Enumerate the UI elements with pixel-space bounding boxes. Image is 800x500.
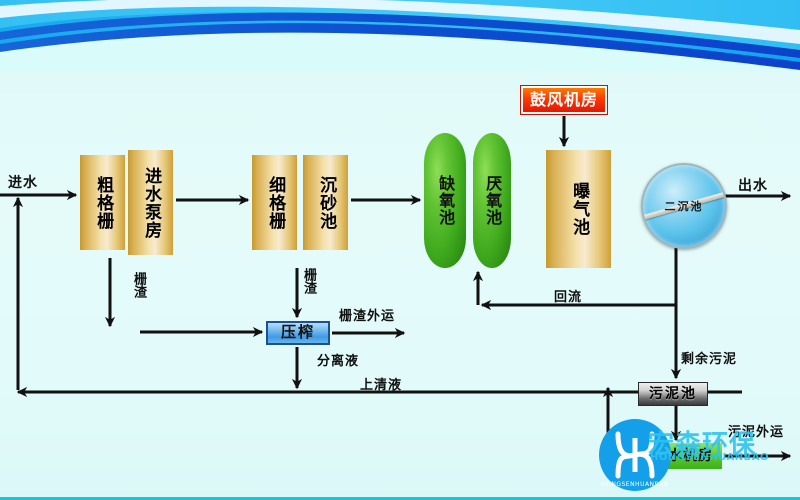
node-label: 进水泵房 xyxy=(142,167,159,239)
label-text: 进水 xyxy=(8,175,38,191)
label-text: 出水 xyxy=(738,178,768,194)
node-fine-screen[interactable]: 细格栅 xyxy=(252,155,297,250)
node-label: 污泥池 xyxy=(649,387,697,401)
svg-text:HONGSENHUANBAO: HONGSENHUANBAO xyxy=(601,481,669,488)
label-text: 栅渣 xyxy=(301,268,316,294)
label-excess-sludge: 剩余污泥 xyxy=(681,348,737,367)
node-label: 厌氧池 xyxy=(484,175,500,226)
node-aeration-tank[interactable]: 曝气池 xyxy=(546,150,611,268)
node-coarse-screen[interactable]: 粗格栅 xyxy=(80,155,125,250)
node-sludge-tank[interactable]: 污泥池 xyxy=(638,382,708,406)
node-label: 二沉池 xyxy=(643,198,725,214)
label-return-sludge: 回流 xyxy=(554,286,582,305)
label-supernatant: 上清液 xyxy=(360,374,402,393)
node-anaerobic-tank[interactable]: 厌氧池 xyxy=(473,133,511,268)
diagram-canvas: 粗格栅 进水泵房 细格栅 沉砂池 缺氧池 厌氧池 曝气池 鼓风机房 压榨 污泥池… xyxy=(0,0,800,500)
label-screenings-coarse: 栅渣 xyxy=(132,272,145,298)
node-anoxic-tank[interactable]: 缺氧池 xyxy=(424,133,466,268)
label-screenings-transport: 栅渣外运 xyxy=(339,305,395,324)
label-influent: 进水 xyxy=(8,172,38,192)
node-label: 曝气池 xyxy=(570,182,587,236)
label-effluent: 出水 xyxy=(738,175,768,195)
label-text: 栅渣 xyxy=(131,272,146,298)
label-text: 上清液 xyxy=(360,378,402,393)
node-blower-room[interactable]: 鼓风机房 xyxy=(521,86,607,114)
label-text: 栅渣外运 xyxy=(339,309,395,324)
node-grit-chamber[interactable]: 沉砂池 xyxy=(303,155,348,250)
node-label: 压榨 xyxy=(281,325,315,340)
label-text: 回流 xyxy=(554,290,582,305)
node-press[interactable]: 压榨 xyxy=(266,321,330,345)
label-text: 分离液 xyxy=(317,354,359,369)
node-influent-pump-room[interactable]: 进水泵房 xyxy=(128,150,173,255)
node-label: 缺氧池 xyxy=(437,175,453,226)
label-screenings-fine: 栅渣 xyxy=(302,268,315,294)
node-secondary-clarifier[interactable]: 二沉池 xyxy=(641,163,727,249)
label-separated-liquid: 分离液 xyxy=(317,350,359,369)
label-text: 剩余污泥 xyxy=(681,352,737,367)
node-label: 粗格栅 xyxy=(94,176,111,230)
watermark-pinyin: HONGSENHUANBAO xyxy=(650,452,769,463)
node-label: 细格栅 xyxy=(266,176,283,230)
node-label: 鼓风机房 xyxy=(530,92,598,108)
node-label: 沉砂池 xyxy=(317,176,334,230)
